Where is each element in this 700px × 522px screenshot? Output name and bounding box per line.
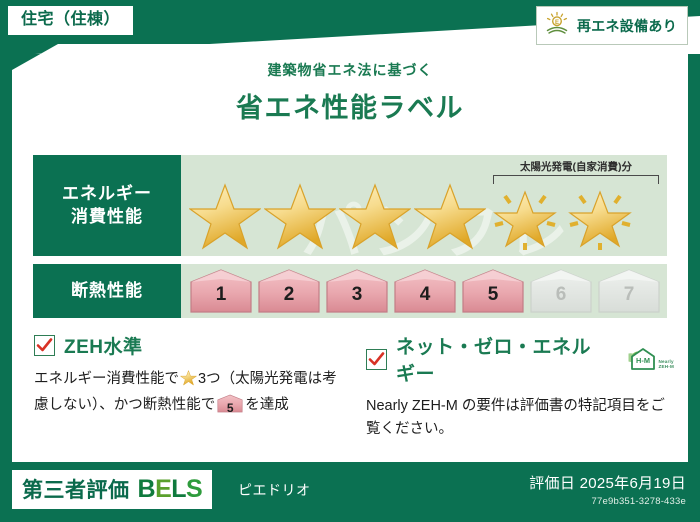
insulation-grade-6-number: 6 (529, 284, 593, 306)
title-block: 建築物省エネ法に基づく 省エネ性能ラベル (12, 60, 688, 125)
solar-sun-icon: E (544, 11, 570, 40)
zeh-level-body: エネルギー消費性能で 3つ（太陽光発電は考慮しない）、かつ断熱性能で 5を達成 (34, 368, 342, 418)
third-party-label: 第三者評価 (22, 474, 130, 504)
evaluation-id: 77e9b351-3278-433e (529, 496, 686, 507)
net-zero-energy-checkbox[interactable] (366, 349, 387, 370)
bels-letter-s: S (186, 475, 202, 503)
inline-grade-badge: 5 (217, 394, 243, 413)
zeh-level-heading: ZEH水準 (34, 332, 342, 359)
performance-rows: エネルギー 消費性能 パンフレ 太陽光発電(自家消費)分 (33, 155, 667, 318)
insulation-grade-5: 5 (461, 268, 525, 314)
star-4 (414, 178, 486, 252)
inline-grade-number: 5 (217, 399, 243, 418)
nearly-zeh-m-logo: H-M Nearly ZEH-M (622, 346, 674, 372)
check-icon (36, 337, 53, 354)
zeh-logo-caption: Nearly ZEH-M (658, 359, 674, 372)
insulation-label-line1: 断熱性能 (71, 280, 143, 302)
zeh-caption-line2: ZEH-M (658, 364, 674, 369)
energy-performance-label: 住宅（住棟） E 再エネ設備あり 建築物省エネ法に基づく (0, 0, 700, 522)
check-sections: ZEH水準 エネルギー消費性能で 3つ（太陽光発電は考慮しない）、かつ断熱性能で… (34, 332, 674, 442)
insulation-grade-2-number: 2 (257, 284, 321, 306)
zeh-body-part3: を達成 (245, 397, 289, 413)
insulation-grade-list: 1 2 (189, 268, 661, 314)
net-zero-energy-title: ネット・ゼロ・エネルギー (396, 332, 607, 386)
insulation-grade-1-number: 1 (189, 284, 253, 306)
net-zero-energy-section: ネット・ゼロ・エネルギー H-M Nearly ZEH-M (366, 332, 674, 442)
insulation-grade-5-number: 5 (461, 284, 525, 306)
label-card: 建築物省エネ法に基づく 省エネ性能ラベル エネルギー 消費性能 パンフレ 太陽光… (12, 44, 688, 462)
zeh-caption-line1: Nearly (658, 359, 673, 364)
renewable-equipment-badge: E 再エネ設備あり (536, 6, 688, 45)
label-subtitle: 建築物省エネ法に基づく (12, 60, 688, 80)
energy-performance-row: エネルギー 消費性能 パンフレ 太陽光発電(自家消費)分 (33, 155, 667, 256)
bels-logo: BELS (138, 475, 203, 504)
star-1 (189, 178, 261, 252)
energy-rating-area: パンフレ 太陽光発電(自家消費)分 (181, 155, 667, 256)
zeh-logo-inner-text: H-M (636, 356, 650, 365)
inline-star-icon (180, 369, 197, 394)
zeh-level-section: ZEH水準 エネルギー消費性能で 3つ（太陽光発電は考慮しない）、かつ断熱性能で… (34, 332, 342, 442)
bels-letter-l: L (171, 475, 186, 503)
bels-letter-e: E (155, 475, 171, 503)
insulation-grade-2: 2 (257, 268, 321, 314)
net-zero-energy-body: Nearly ZEH-M の要件は評価書の特記項目をご覧ください。 (366, 395, 674, 442)
insulation-grade-4-number: 4 (393, 284, 457, 306)
insulation-grade-3: 3 (325, 268, 389, 314)
building-type-label: 住宅（住棟） (21, 11, 120, 28)
insulation-grade-7: 7 (597, 268, 661, 314)
brand-name: ピエドリオ (238, 480, 311, 500)
insulation-grade-3-number: 3 (325, 284, 389, 306)
insulation-grade-6: 6 (529, 268, 593, 314)
insulation-grade-1: 1 (189, 268, 253, 314)
svg-text:E: E (555, 20, 559, 26)
label-title: 省エネ性能ラベル (12, 86, 688, 125)
check-icon (368, 351, 385, 368)
star-5-solar (489, 178, 561, 252)
star-2 (264, 178, 336, 252)
third-party-evaluation-chip: 第三者評価 BELS (12, 470, 212, 509)
star-3 (339, 178, 411, 252)
evaluation-date: 評価日 2025年6月19日 (529, 472, 686, 493)
net-zero-energy-heading: ネット・ゼロ・エネルギー H-M Nearly ZEH-M (366, 332, 674, 386)
evaluation-info: 評価日 2025年6月19日 77e9b351-3278-433e (529, 472, 686, 507)
energy-performance-label-box: エネルギー 消費性能 (33, 155, 181, 256)
insulation-grade-7-number: 7 (597, 284, 661, 306)
insulation-performance-row: 断熱性能 (33, 264, 667, 318)
building-type-chip: 住宅（住棟） (8, 6, 133, 35)
renewable-equipment-label: 再エネ設備あり (577, 16, 677, 36)
zeh-level-title: ZEH水準 (64, 332, 143, 359)
insulation-performance-label-box: 断熱性能 (33, 264, 181, 318)
solar-bracket-label: 太陽光発電(自家消費)分 (493, 159, 659, 174)
energy-label-line2: 消費性能 (71, 206, 143, 228)
star-6-solar (564, 178, 636, 252)
bels-letter-b: B (138, 475, 156, 503)
energy-label-line1: エネルギー (62, 183, 152, 205)
footer: 第三者評価 BELS ピエドリオ 評価日 2025年6月19日 77e9b351… (0, 462, 700, 522)
insulation-grade-4: 4 (393, 268, 457, 314)
energy-star-rating (189, 178, 636, 252)
zeh-body-part1: エネルギー消費性能で (34, 371, 179, 387)
insulation-rating-area: 1 2 (181, 264, 667, 318)
zeh-level-checkbox[interactable] (34, 335, 55, 356)
